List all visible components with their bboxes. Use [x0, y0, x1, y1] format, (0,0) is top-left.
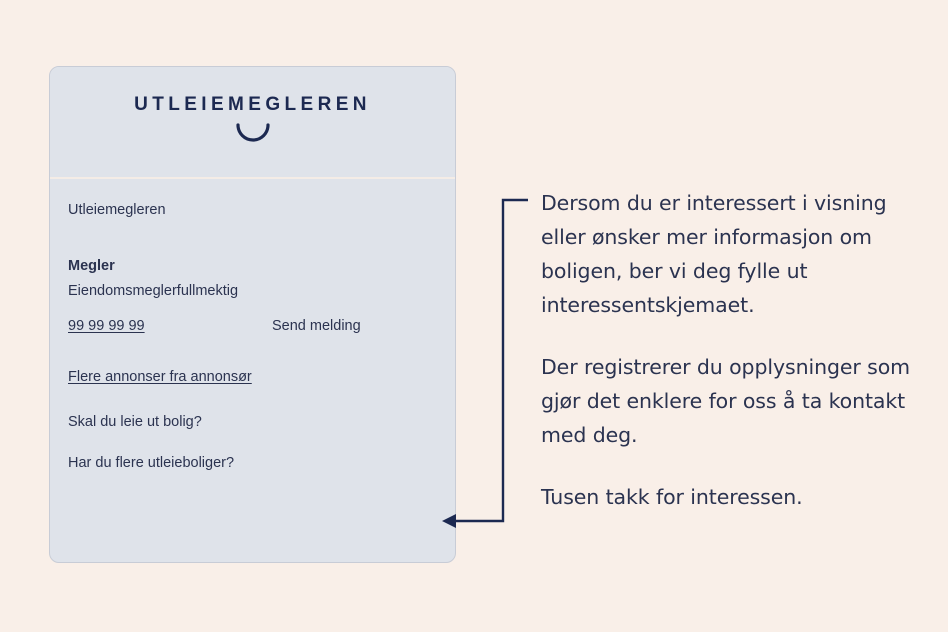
multiple-properties-link[interactable]: Har du flere utleieboliger? — [68, 454, 437, 474]
contact-row: 99 99 99 99 Send melding — [68, 317, 437, 337]
agent-contact-card: UTLEIEMEGLEREN Utleiemegleren Megler Eie… — [49, 66, 456, 563]
more-ads-link[interactable]: Flere annonser fra annonsør — [68, 368, 252, 388]
send-message-link[interactable]: Send melding — [272, 317, 361, 337]
company-name: Utleiemegleren — [68, 201, 437, 221]
annotation-paragraph-2: Der registrerer du opplysninger som gjør… — [541, 350, 921, 452]
card-header: UTLEIEMEGLEREN — [50, 67, 455, 179]
annotation-paragraph-3: Tusen takk for interessen. — [541, 480, 921, 514]
card-body: Utleiemegleren Megler Eiendomsmeglerfull… — [50, 179, 455, 562]
annotation-text: Dersom du er interessert i visning eller… — [541, 186, 921, 514]
agent-role-title: Megler — [68, 257, 437, 277]
agent-role-subtitle: Eiendomsmeglerfullmektig — [68, 282, 437, 302]
agent-phone-link[interactable]: 99 99 99 99 — [68, 317, 272, 337]
smile-arc-icon — [235, 123, 271, 142]
rent-out-property-link[interactable]: Skal du leie ut bolig? — [68, 413, 437, 433]
brand-wordmark: UTLEIEMEGLEREN — [134, 95, 371, 114]
annotation-paragraph-1: Dersom du er interessert i visning eller… — [541, 186, 921, 322]
